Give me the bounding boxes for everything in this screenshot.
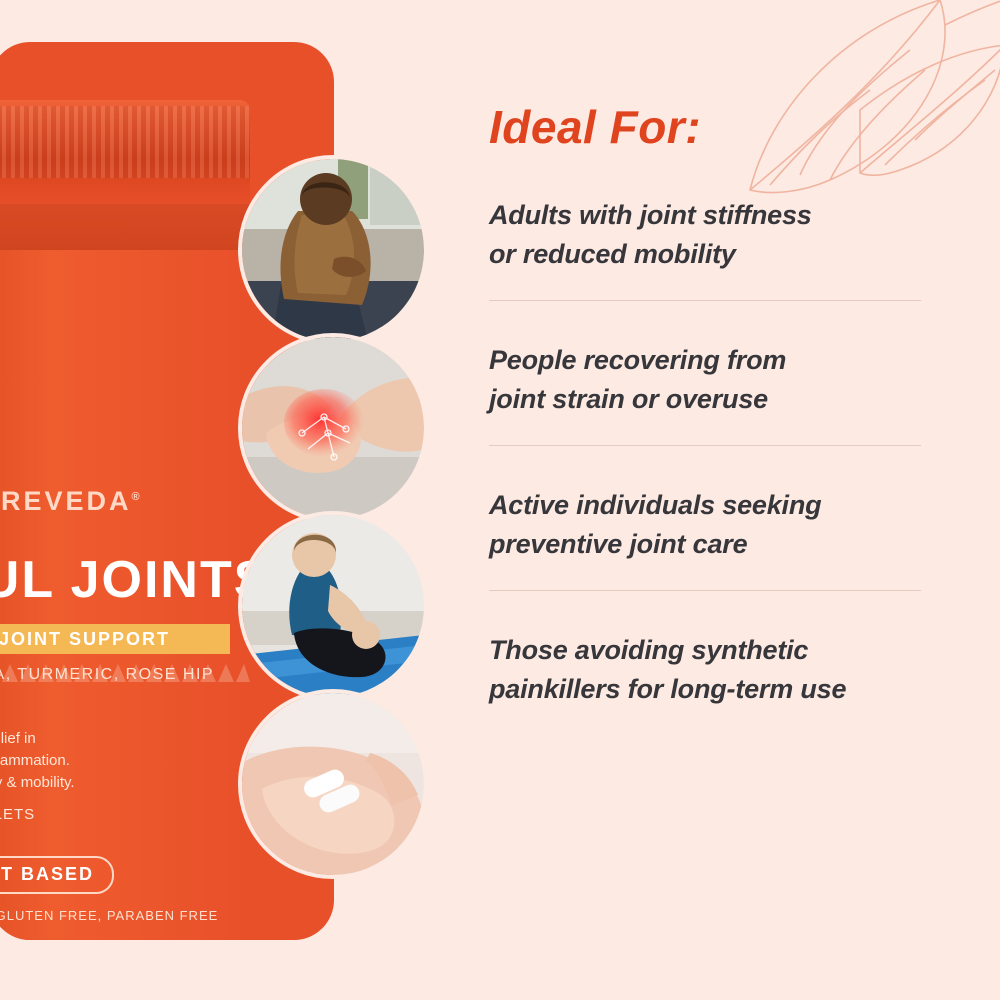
list-item: Active individuals seeking preventive jo… bbox=[489, 486, 921, 590]
list-item-line-2: preventive joint care bbox=[489, 525, 921, 564]
product-benefits: provide relief in pain & inflammation. s… bbox=[0, 728, 75, 794]
list-item-line-2: joint strain or overuse bbox=[489, 380, 921, 419]
leaf-outline-decoration bbox=[710, 0, 1000, 210]
registered-mark: ® bbox=[132, 491, 143, 503]
supplement-bottle: CUREVEDA® FUL JOINTS E & JOINT SUPPORT W… bbox=[0, 100, 250, 930]
tablet-count: EG TABLETS bbox=[0, 806, 35, 823]
list-divider bbox=[489, 445, 921, 446]
list-item: People recovering from joint strain or o… bbox=[489, 341, 921, 445]
list-item-line-1: Those avoiding synthetic bbox=[489, 631, 921, 670]
list-divider bbox=[489, 590, 921, 591]
brand-name: CUREVEDA® bbox=[0, 486, 143, 517]
bottle-label: CUREVEDA® FUL JOINTS E & JOINT SUPPORT W… bbox=[0, 328, 250, 888]
list-item-line-2: painkillers for long-term use bbox=[489, 670, 921, 709]
page-title: Ideal For: bbox=[489, 100, 701, 154]
brand-text: CUREVEDA bbox=[0, 486, 132, 516]
benefit-line-3: s flexibility & mobility. bbox=[0, 772, 75, 794]
list-divider bbox=[489, 300, 921, 301]
hand-joint-pain-highlighted-photo bbox=[238, 333, 428, 523]
plant-based-label: PLANT BASED bbox=[0, 864, 94, 885]
product-subtitle: E & JOINT SUPPORT bbox=[0, 629, 170, 650]
product-subtitle-band: E & JOINT SUPPORT bbox=[0, 624, 230, 654]
product-herbs: WELLIA, TURMERIC, ROSE HIP bbox=[0, 666, 214, 684]
bottle-neck bbox=[0, 204, 250, 256]
list-item-line-2: or reduced mobility bbox=[489, 235, 921, 274]
photo-column bbox=[238, 155, 430, 887]
pills-in-open-palm-photo bbox=[238, 689, 428, 879]
list-item-line-1: People recovering from bbox=[489, 341, 921, 380]
list-item: Those avoiding synthetic painkillers for… bbox=[489, 631, 921, 735]
bottle-cap-ridges bbox=[0, 106, 250, 178]
bottle-cap bbox=[0, 100, 250, 208]
benefit-line-1: provide relief in bbox=[0, 728, 75, 750]
benefit-line-2: pain & inflammation. bbox=[0, 750, 75, 772]
list-item: Adults with joint stiffness or reduced m… bbox=[489, 196, 921, 300]
list-item-line-1: Adults with joint stiffness bbox=[489, 196, 921, 235]
list-item-line-1: Active individuals seeking bbox=[489, 486, 921, 525]
elderly-man-with-knee-pain-photo bbox=[238, 155, 428, 345]
ideal-for-list: Adults with joint stiffness or reduced m… bbox=[489, 196, 921, 735]
product-title: FUL JOINTS bbox=[0, 550, 270, 610]
plant-based-badge: PLANT BASED bbox=[0, 856, 114, 894]
woman-holding-knee-on-yoga-mat-photo bbox=[238, 511, 428, 701]
certification-line: ETARIAN, GLUTEN FREE, PARABEN FREE bbox=[0, 908, 218, 923]
